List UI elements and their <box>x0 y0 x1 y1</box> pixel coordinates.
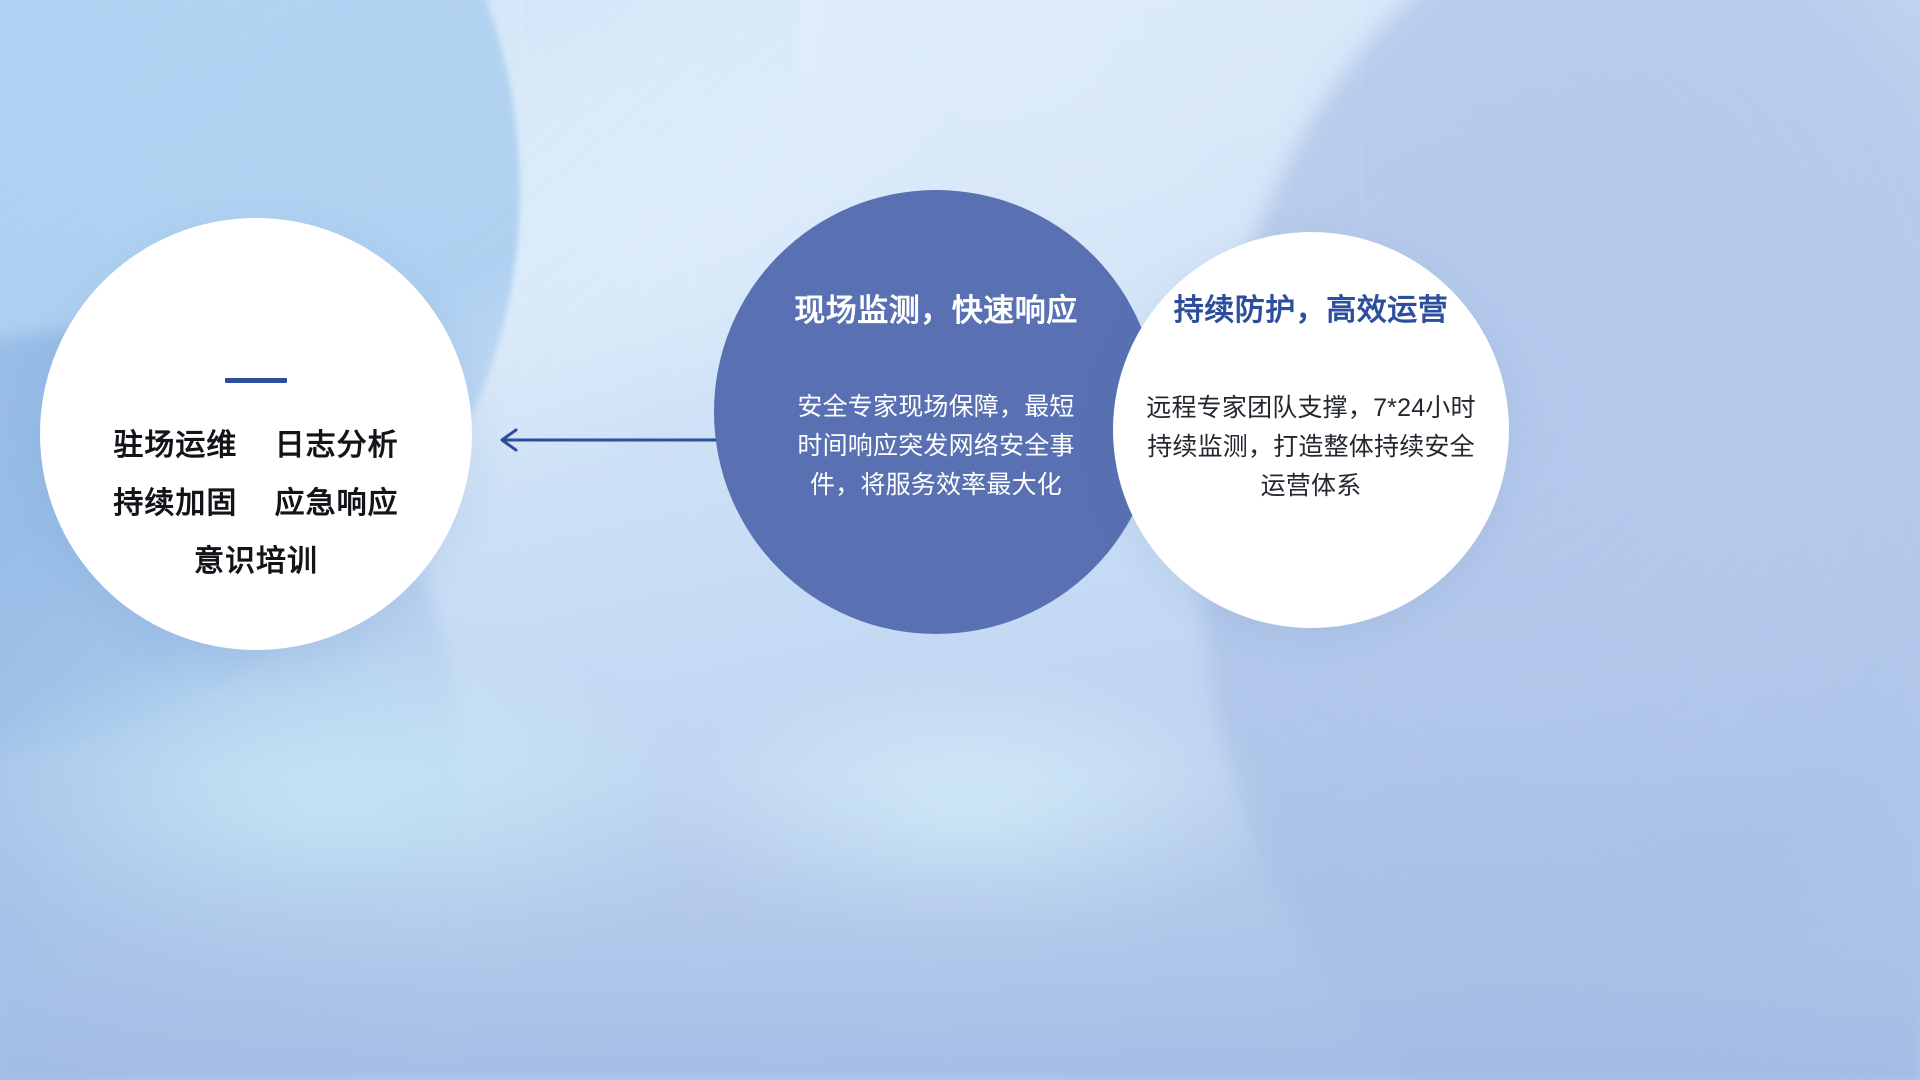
circle-onsite-monitoring-content: 现场监测，快速响应 安全专家现场保障，最短时间响应突发网络安全事件，将服务效率最… <box>714 190 1158 634</box>
circle-service-keywords-content: 驻场运维 日志分析 持续加固 应急响应 意识培训 <box>40 218 472 650</box>
divider-dash <box>225 378 287 383</box>
background-bottom-haze <box>0 780 1920 1080</box>
mid-circle-title: 现场监测，快速响应 <box>794 294 1078 328</box>
circle-continuous-protection-content: 持续防护，高效运营 远程专家团队支撑，7*24小时持续监测，打造整体持续安全运营… <box>1113 232 1509 628</box>
arrow-left-icon <box>490 424 722 456</box>
right-circle-title: 持续防护，高效运营 <box>1174 294 1449 327</box>
slide-canvas: 现场监测，快速响应 安全专家现场保障，最短时间响应突发网络安全事件，将服务效率最… <box>0 0 1920 1080</box>
keyword-line-3: 意识培训 <box>194 547 318 577</box>
keyword-line-1: 驻场运维 日志分析 <box>113 431 398 461</box>
keyword-line-2: 持续加固 应急响应 <box>113 489 398 519</box>
right-circle-body: 远程专家团队支撑，7*24小时持续监测，打造整体持续安全运营体系 <box>1136 389 1486 505</box>
mid-circle-body: 安全专家现场保障，最短时间响应突发网络安全事件，将服务效率最大化 <box>797 388 1075 504</box>
